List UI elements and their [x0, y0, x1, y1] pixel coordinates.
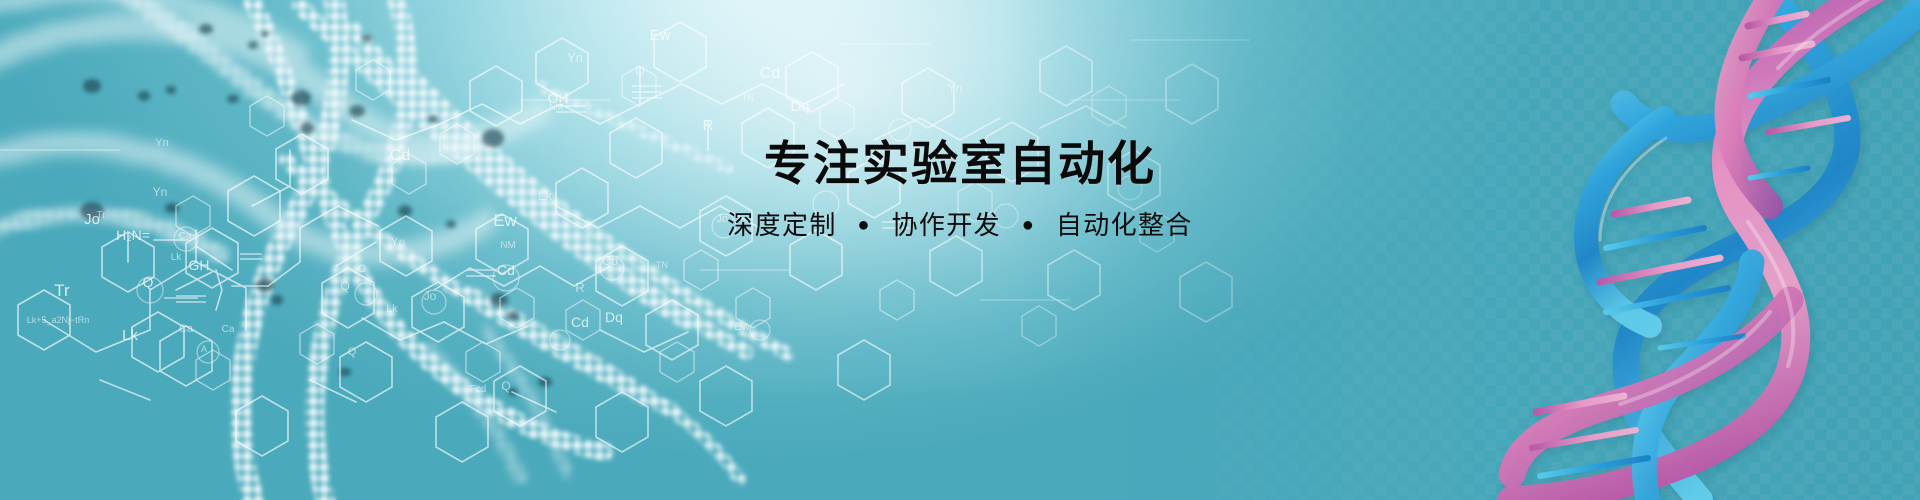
page-title: 专注实验室自动化 [0, 138, 1920, 191]
dna-double-helix-artwork [0, 0, 1920, 500]
subtitle-item-1: 深度定制 [727, 210, 837, 240]
bullet-separator-icon: ● [1022, 212, 1035, 238]
banner-subtitle: 深度定制 ● 协作开发 ● 自动化整合 [0, 209, 1920, 243]
banner-text-block: 专注实验室自动化 深度定制 ● 协作开发 ● 自动化整合 [0, 138, 1920, 242]
bullet-separator-icon: ● [857, 212, 870, 238]
subtitle-item-3: 自动化整合 [1056, 210, 1193, 240]
subtitle-item-2: 协作开发 [891, 210, 1001, 240]
lab-automation-banner: TrLkLk+5_a2Nj−tRnJoTrH₂N=QGHCaCaYnYnCdCd… [0, 0, 1920, 500]
